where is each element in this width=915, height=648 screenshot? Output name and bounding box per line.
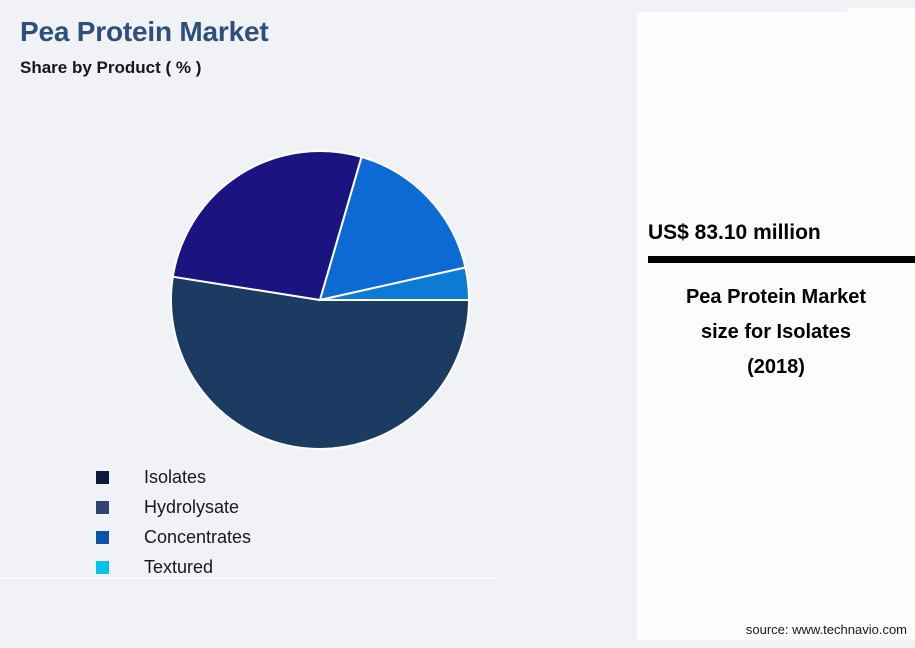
- legend-swatch-concentrates: [96, 531, 109, 544]
- chart-infographic: Pea Protein Market Share by Product ( % …: [0, 0, 915, 648]
- chart-panel: Pea Protein Market Share by Product ( % …: [0, 0, 627, 648]
- legend-label-hydrolysate: Hydrolysate: [144, 497, 239, 518]
- legend-item-concentrates[interactable]: Concentrates: [96, 522, 516, 552]
- legend-swatch-isolates: [96, 471, 109, 484]
- pie-slices: [171, 151, 469, 449]
- legend-item-isolates[interactable]: Isolates: [96, 462, 516, 492]
- legend-label-textured: Textured: [144, 557, 213, 578]
- pie-chart-svg: [170, 150, 470, 450]
- legend-label-concentrates: Concentrates: [144, 527, 251, 548]
- kpi-caption-line-3: (2018): [645, 350, 907, 385]
- kpi-card-top-strip: [637, 8, 847, 12]
- legend-divider: [0, 578, 498, 579]
- legend-label-isolates: Isolates: [144, 467, 206, 488]
- legend-item-hydrolysate[interactable]: Hydrolysate: [96, 492, 516, 522]
- kpi-divider: [648, 256, 915, 263]
- kpi-value: US$ 83.10 million: [648, 221, 914, 245]
- legend-swatch-hydrolysate: [96, 501, 109, 514]
- kpi-caption: Pea Protein Market size for Isolates (20…: [645, 280, 907, 385]
- source-note: source: www.technavio.com: [637, 622, 907, 637]
- legend-swatch-textured: [96, 561, 109, 574]
- chart-subtitle: Share by Product ( % ): [20, 58, 201, 78]
- kpi-card: US$ 83.10 million Pea Protein Market siz…: [637, 8, 915, 640]
- chart-legend: Isolates Hydrolysate Concentrates Textur…: [96, 462, 516, 582]
- page-title: Pea Protein Market: [20, 16, 269, 48]
- pie-slice-isolates[interactable]: [171, 277, 469, 449]
- kpi-caption-line-1: Pea Protein Market: [645, 280, 907, 315]
- pie-chart: [170, 150, 470, 450]
- kpi-caption-line-2: size for Isolates: [645, 315, 907, 350]
- kpi-panel: US$ 83.10 million Pea Protein Market siz…: [627, 0, 915, 648]
